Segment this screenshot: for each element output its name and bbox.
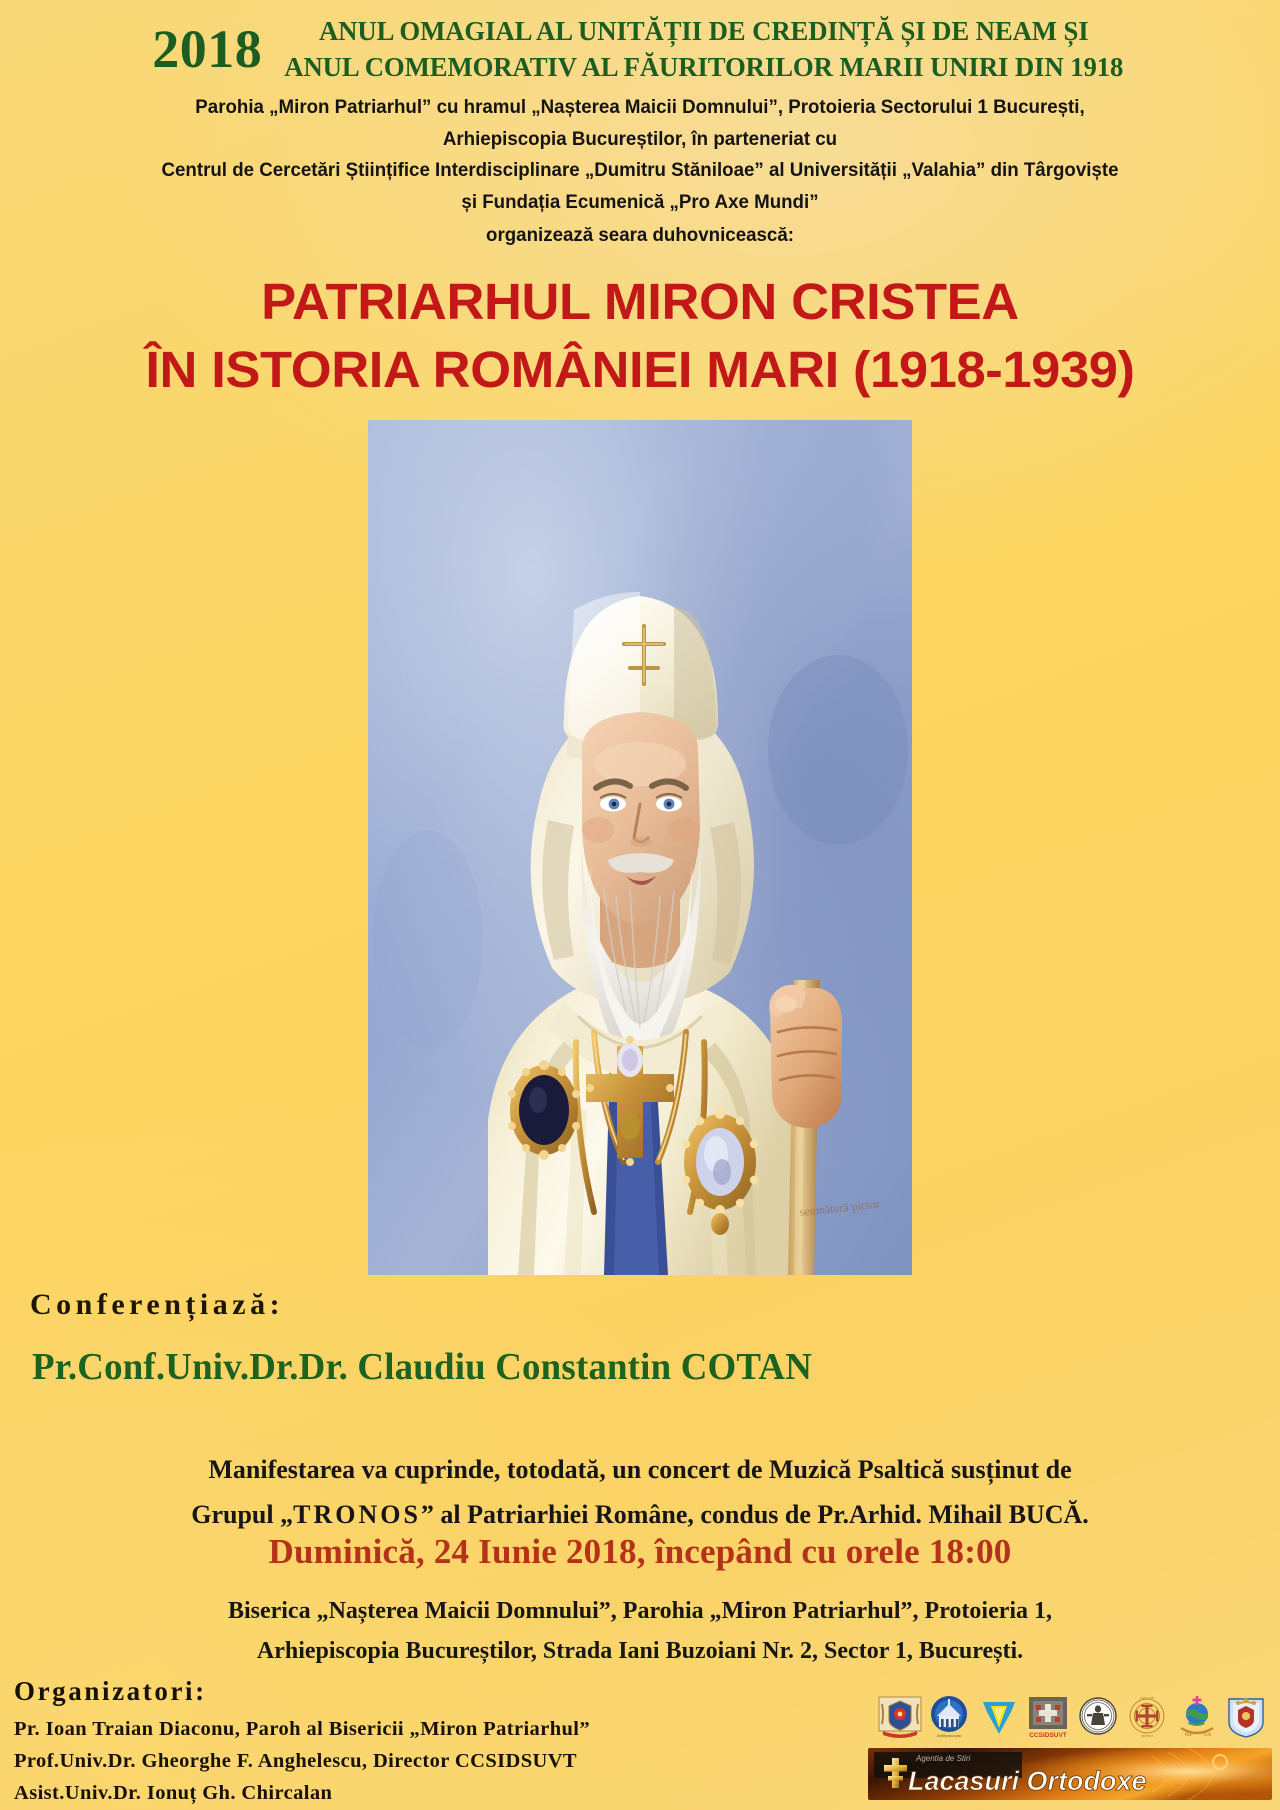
organizers-intro-block: Parohia „Miron Patriarhul” cu hramul „Na… <box>26 92 1255 252</box>
intro-line-2: Arhiepiscopia Bucureștilor, în parteneri… <box>26 124 1255 156</box>
poster-root: 2018 ANUL OMAGIAL AL UNITĂȚII DE CREDINȚ… <box>0 0 1280 1810</box>
concert-line2-pre: Grupul „ <box>191 1500 293 1529</box>
organizers-list: Pr. Ioan Traian Diaconu, Paroh al Biseri… <box>14 1714 590 1810</box>
svg-text:PRO AXE: PRO AXE <box>1140 1696 1154 1700</box>
speaker-name: Pr.Conf.Univ.Dr.Dr. Claudiu Constantin C… <box>32 1345 812 1389</box>
concert-description: Manifestarea va cuprinde, totodată, un c… <box>0 1448 1280 1537</box>
concert-line2-post: ” al Patriarhiei Române, condus de Pr.Ar… <box>421 1500 1089 1529</box>
concert-group-name: TRONOS <box>293 1500 421 1529</box>
event-date-time: Duminică, 24 Iunie 2018, începând cu ore… <box>0 1532 1280 1572</box>
speaker-label: Conferențiază: <box>30 1288 284 1322</box>
organizers-title: Organizatori: <box>14 1676 207 1707</box>
intro-line-1: Parohia „Miron Patriarhul” cu hramul „Na… <box>26 92 1255 124</box>
universitatea-valahia-logo-icon <box>977 1694 1021 1740</box>
event-main-title: PATRIARHUL MIRON CRISTEA ÎN ISTORIA ROMÂ… <box>0 268 1280 404</box>
commemorative-title-lines: ANUL OMAGIAL AL UNITĂȚII DE CREDINȚĂ ȘI … <box>284 14 1123 85</box>
organizer-3: Asist.Univ.Dr. Ionuț Gh. Chircalan <box>14 1778 590 1810</box>
svg-text:MUNDI: MUNDI <box>1141 1734 1153 1738</box>
svg-text:PAX: PAX <box>1185 1733 1192 1737</box>
main-title-line-1: PATRIARHUL MIRON CRISTEA <box>0 268 1280 336</box>
banner-brand: Lacasuri Ortodoxe <box>908 1766 1147 1796</box>
patriarch-portrait-image: semnătură pictor <box>368 420 912 1275</box>
organizer-2: Prof.Univ.Dr. Gheorghe F. Anghelescu, Di… <box>14 1746 590 1778</box>
main-title-line-2: ÎN ISTORIA ROMÂNIEI MARI (1918-1939) <box>0 336 1280 404</box>
year-2018: 2018 <box>152 14 262 77</box>
ccsidsuvt-caption: CCSIDSUVT <box>1029 1732 1067 1739</box>
concert-line-1: Manifestarea va cuprinde, totodată, un c… <box>0 1448 1280 1493</box>
venue-line-1: Biserica „Nașterea Maicii Domnului”, Par… <box>0 1592 1280 1632</box>
svg-text:Arhiepiscopia: Arhiepiscopia <box>937 1733 962 1738</box>
ccsidsuvt-logo-icon: CCSIDSUVT <box>1026 1694 1070 1740</box>
pro-axe-mundi-logo-icon: PRO AXE MUNDI <box>1125 1694 1169 1740</box>
commemorative-line-2: ANUL COMEMORATIV AL FĂURITORILOR MARII U… <box>284 50 1123 86</box>
venue-line-2: Arhiepiscopia Bucureștilor, Strada Iani … <box>0 1632 1280 1672</box>
intro-organizes-line: organizează seara duhovnicească: <box>26 220 1255 252</box>
organizer-1: Pr. Ioan Traian Diaconu, Paroh al Biseri… <box>14 1714 590 1746</box>
protoieria-sector-1-crest-icon <box>1224 1694 1268 1740</box>
intro-line-4: și Fundația Ecumenică „Pro Axe Mundi” <box>26 187 1255 219</box>
svg-text:LUX: LUX <box>1204 1733 1212 1737</box>
commemorative-line-1: ANUL OMAGIAL AL UNITĂȚII DE CREDINȚĂ ȘI … <box>284 14 1123 50</box>
concert-line-2: Grupul „TRONOS” al Patriarhiei Române, c… <box>0 1493 1280 1538</box>
facultatea-teologie-seal-icon <box>1076 1694 1120 1740</box>
lacasuri-ortodoxe-banner[interactable]: Agentia de Stiri Lacasuri Ortodoxe <box>868 1748 1272 1800</box>
arhiepiscopia-bucurestilor-seal-icon: Arhiepiscopia <box>927 1694 971 1740</box>
patriarhia-romana-coat-of-arms-icon <box>878 1694 922 1740</box>
commemorative-header: 2018 ANUL OMAGIAL AL UNITĂȚII DE CREDINȚ… <box>0 14 1280 85</box>
banner-tagline: Agentia de Stiri <box>915 1754 970 1763</box>
partner-logos-strip: Arhiepiscopia CCSIDSUVT <box>878 1692 1268 1742</box>
intro-line-3: Centrul de Cercetări Științifice Interdi… <box>26 155 1255 187</box>
ecumenical-globe-cross-logo-icon: PAX LUX <box>1175 1694 1219 1740</box>
event-venue: Biserica „Nașterea Maicii Domnului”, Par… <box>0 1592 1280 1672</box>
